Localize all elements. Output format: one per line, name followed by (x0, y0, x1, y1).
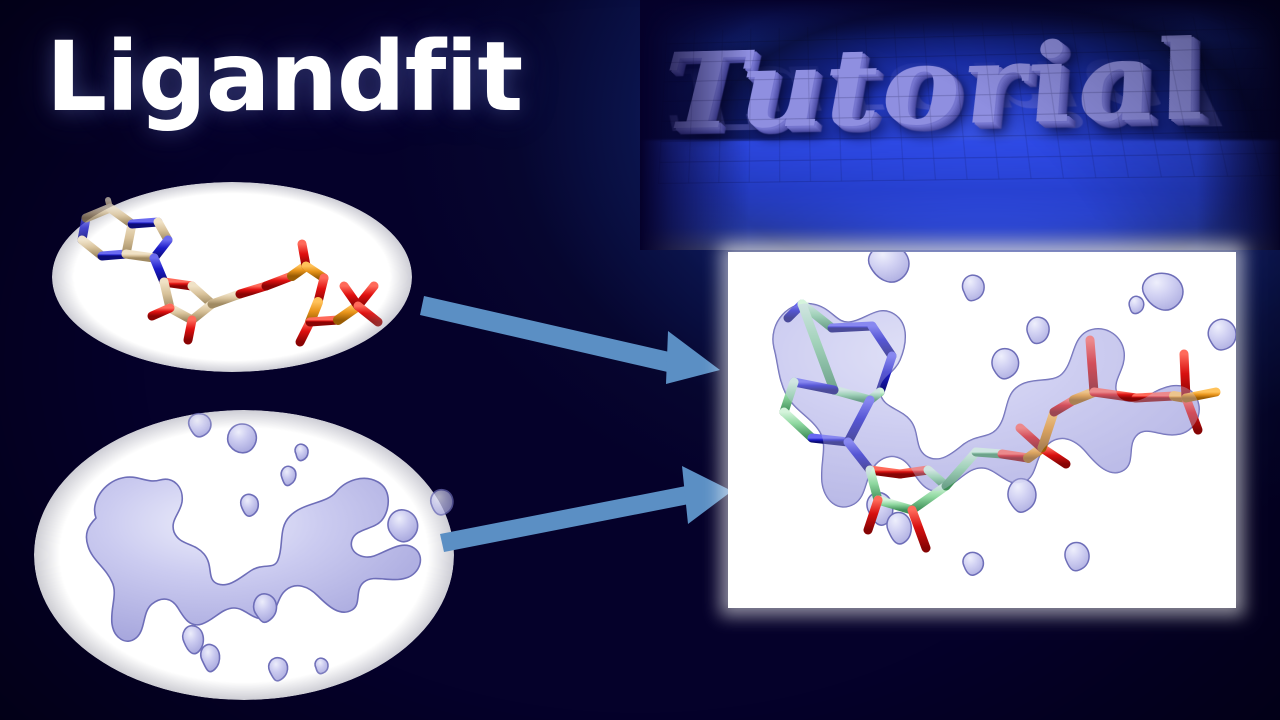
ligand-structure-oval (52, 182, 412, 372)
electron-density-oval (34, 410, 454, 700)
page-title: Ligandfit (46, 24, 522, 132)
fitted-result-panel (728, 252, 1236, 608)
fitted-ligand-in-density-icon (728, 252, 1236, 608)
atp-stick-model-icon (52, 182, 412, 372)
arrow-ligand-to-result (420, 278, 740, 398)
electron-density-isosurface-icon (34, 410, 454, 700)
slide-canvas: Tutorial Tutorial Ligandfit (0, 0, 1280, 720)
result-panel-inner (728, 252, 1236, 608)
arrow-density-to-result (440, 452, 740, 562)
